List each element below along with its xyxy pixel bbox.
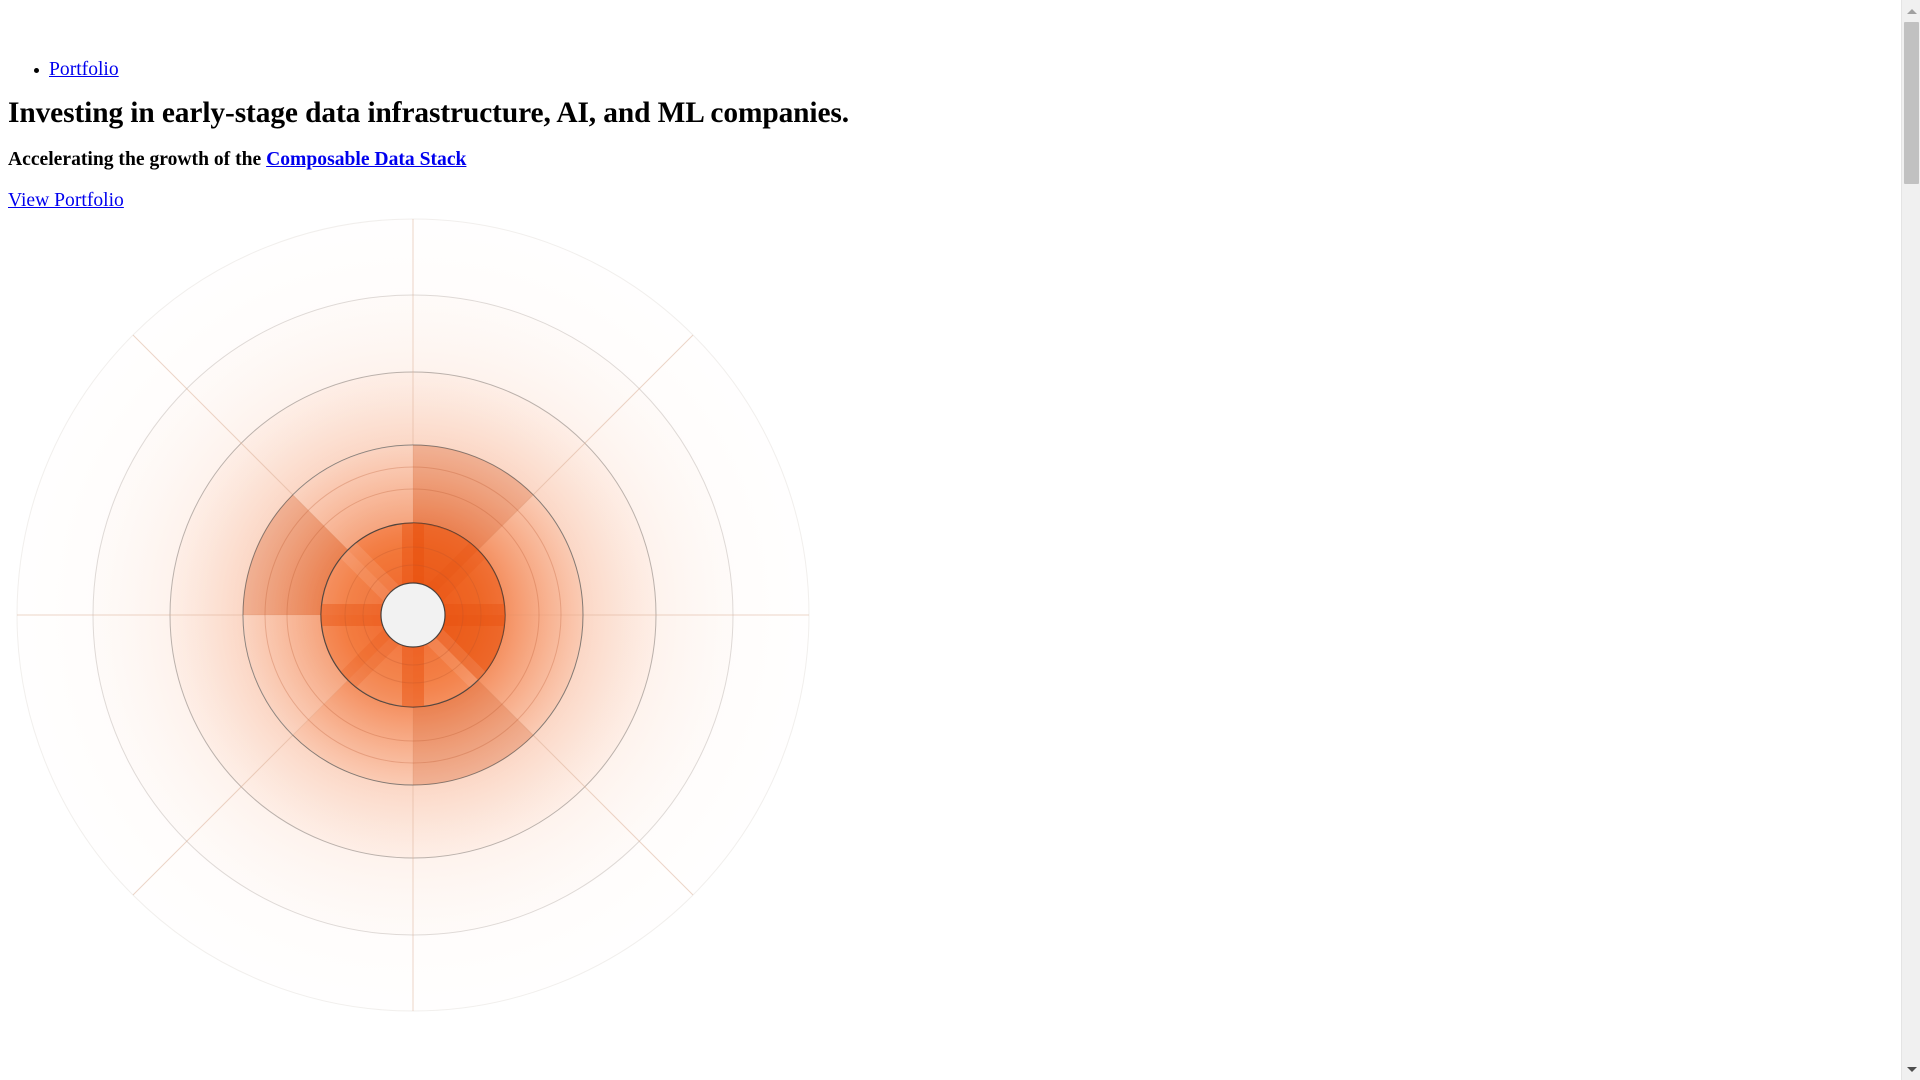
nav-item-portfolio[interactable]: Portfolio (0, 58, 119, 82)
guide-circles (265, 467, 561, 763)
subhead-prefix-text: Accelerating the growth of the (8, 149, 266, 170)
page-headline: Investing in early-stage data infrastruc… (8, 96, 849, 130)
triangle-up-icon (1907, 9, 1917, 14)
scroll-up-arrow-icon[interactable] (1902, 2, 1920, 20)
outer-rings (17, 219, 809, 1011)
disc-bullet-icon (34, 68, 39, 73)
view-portfolio-link[interactable]: View Portfolio (8, 189, 124, 213)
primary-nav: Portfolio (0, 58, 119, 82)
ring-2 (243, 445, 583, 785)
subhead-link-composable-data-stack[interactable]: Composable Data Stack (266, 149, 466, 170)
scrollbar-thumb[interactable] (1904, 22, 1919, 184)
page-content: Portfolio Investing in early-stage data … (0, 0, 1901, 1080)
ring-1 (321, 523, 505, 707)
vertical-scrollbar[interactable] (1901, 0, 1920, 1080)
concentric-radial-burst-graphic (0, 216, 830, 1080)
mid-ring-wedges (233, 435, 540, 795)
core-circle (381, 583, 445, 647)
triangle-down-icon (1907, 1067, 1917, 1072)
outer-spokes (17, 219, 809, 1011)
page-subhead: Accelerating the growth of the Composabl… (8, 148, 466, 172)
core-wedges (313, 515, 513, 715)
scroll-down-arrow-icon[interactable] (1902, 1060, 1920, 1078)
core-cross-bars (321, 523, 505, 707)
radial-burst-svg (0, 216, 830, 1080)
nav-link-portfolio[interactable]: Portfolio (49, 59, 119, 80)
